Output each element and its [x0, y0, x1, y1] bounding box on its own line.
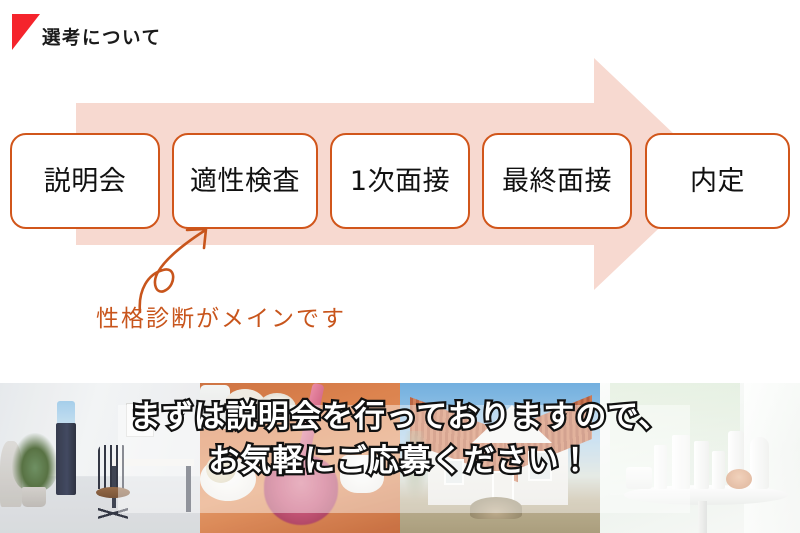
caption-line-1: まずは説明会を行っておりますので、 [0, 395, 800, 439]
process-step-label: 説明会 [44, 168, 127, 195]
page-title-row: 選考について [0, 14, 400, 58]
caption-line-2: お気軽にご応募ください！ [0, 439, 800, 483]
process-step-track: 説明会 適性検査 1次面接 最終面接 内定 [0, 133, 800, 229]
slide-canvas: 選考について 説明会 適性検査 1次面接 最終面接 内定 [0, 0, 800, 533]
process-step-label: 1次面接 [350, 168, 450, 195]
process-step-label: 最終面接 [502, 168, 612, 195]
process-step-box-4[interactable]: 最終面接 [482, 133, 632, 229]
process-step-label: 内定 [690, 168, 745, 195]
red-triangle-marker-icon [12, 14, 40, 50]
process-step-box-5[interactable]: 内定 [645, 133, 790, 229]
callout-text: 性格診断がメインです [96, 308, 346, 331]
handdrawn-curved-arrow-icon [132, 208, 242, 316]
process-step-label: 適性検査 [190, 168, 300, 195]
caption-text: まずは説明会を行っておりますので、 お気軽にご応募ください！ [0, 395, 800, 483]
process-step-box-3[interactable]: 1次面接 [330, 133, 470, 229]
page-title: 選考について [42, 29, 161, 48]
